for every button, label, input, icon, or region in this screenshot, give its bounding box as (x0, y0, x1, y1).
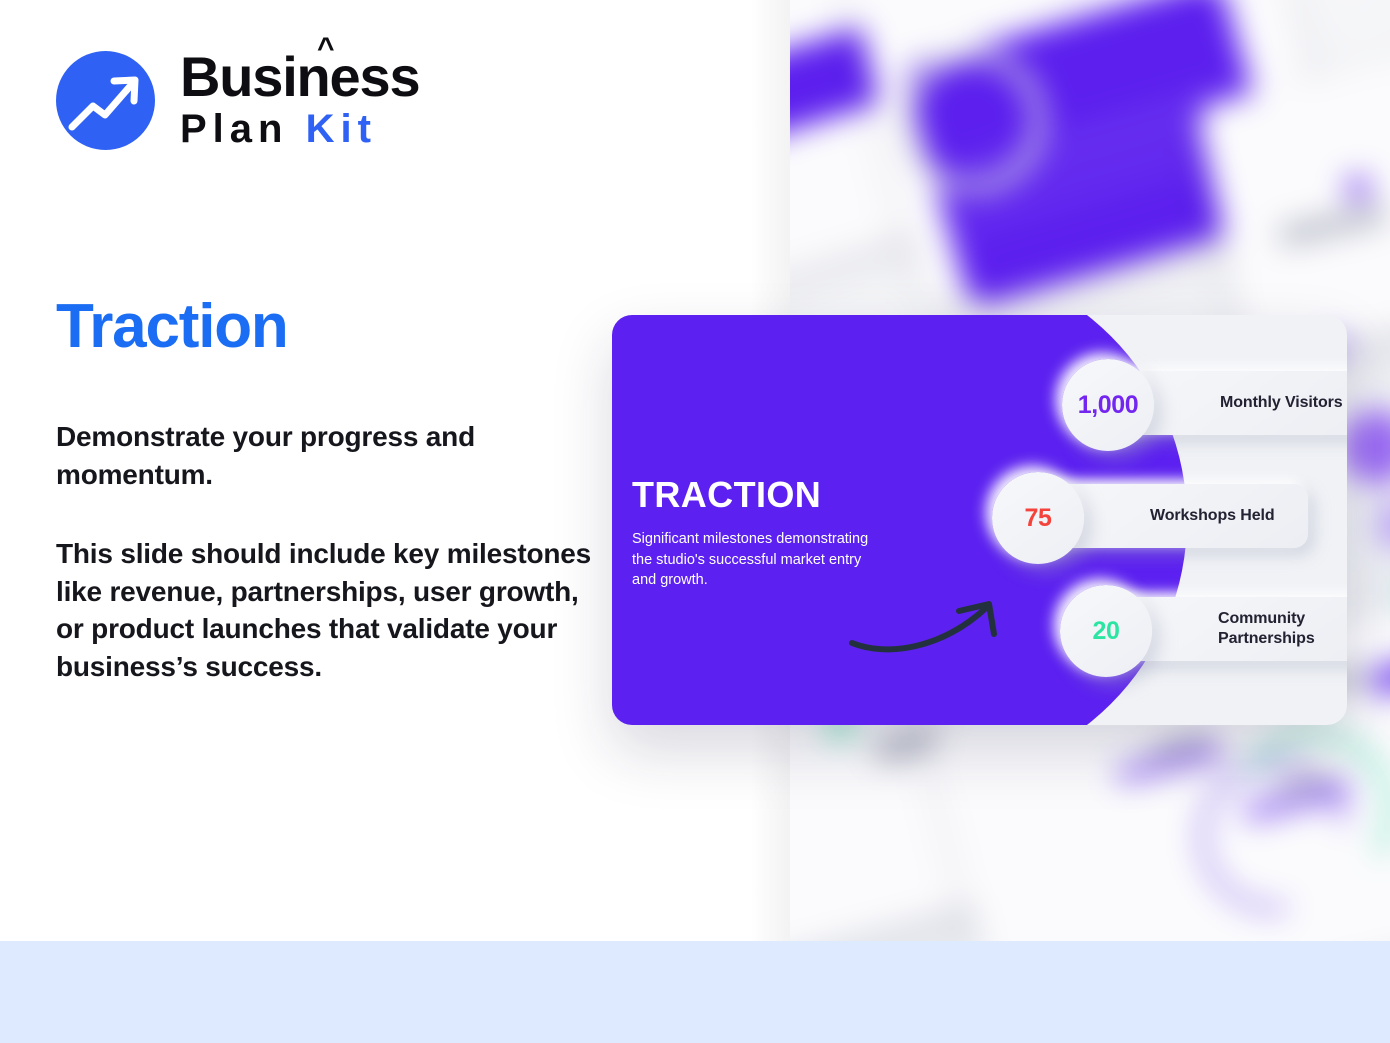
page-title: Traction (56, 296, 288, 358)
curved-arrow-up-right-icon (847, 595, 1007, 655)
background-dot-purple-1 (1345, 175, 1371, 201)
metric-label-community-partnerships: Community Partnerships (1218, 609, 1347, 649)
metric-label-monthly-visitors: Monthly Visitors (1220, 393, 1343, 413)
bottom-accent-bar (0, 941, 1390, 1043)
brand-plan-text: Plan (180, 107, 288, 151)
slide-subtitle: Significant milestones demonstrating the… (632, 529, 882, 591)
metric-circle-monthly-visitors: 1,000 (1062, 359, 1154, 451)
metric-value-community-partnerships: 20 (1092, 617, 1119, 646)
slide-stage: Business ^ Plan Kit Traction Demonstrate… (0, 0, 1390, 1043)
metric-row-workshops-held[interactable]: Workshops Held 75 (992, 472, 1084, 564)
description-paragraph-2: This slide should include key milestones… (56, 535, 596, 685)
brand-line-plan-kit: Plan Kit (180, 107, 419, 152)
metric-value-monthly-visitors: 1,000 (1078, 391, 1139, 420)
brand-wordmark: Business ^ Plan Kit (180, 50, 419, 152)
brand-logo[interactable]: Business ^ Plan Kit (56, 50, 419, 152)
growth-chart-arrow-icon (56, 51, 155, 150)
traction-slide-preview-card[interactable]: TRACTION Significant milestones demonstr… (612, 315, 1347, 725)
metric-row-monthly-visitors[interactable]: Monthly Visitors 1,000 (1062, 359, 1154, 451)
brand-business-text: Business (180, 45, 419, 108)
description-paragraph-1: Demonstrate your progress and momentum. (56, 418, 596, 493)
metric-row-community-partnerships[interactable]: Community Partnerships 20 (1060, 585, 1152, 677)
brand-kit-text: Kit (306, 107, 377, 151)
metric-circle-community-partnerships: 20 (1060, 585, 1152, 677)
brand-line-business: Business ^ (180, 50, 419, 105)
slide-title: TRACTION (632, 477, 894, 513)
page-description: Demonstrate your progress and momentum. … (56, 418, 596, 685)
metric-label-workshops-held: Workshops Held (1150, 506, 1275, 526)
metric-circle-workshops-held: 75 (992, 472, 1084, 564)
slide-heading-block: TRACTION Significant milestones demonstr… (632, 477, 894, 591)
circumflex-accent-icon: ^ (317, 34, 333, 63)
metric-value-workshops-held: 75 (1024, 504, 1051, 533)
